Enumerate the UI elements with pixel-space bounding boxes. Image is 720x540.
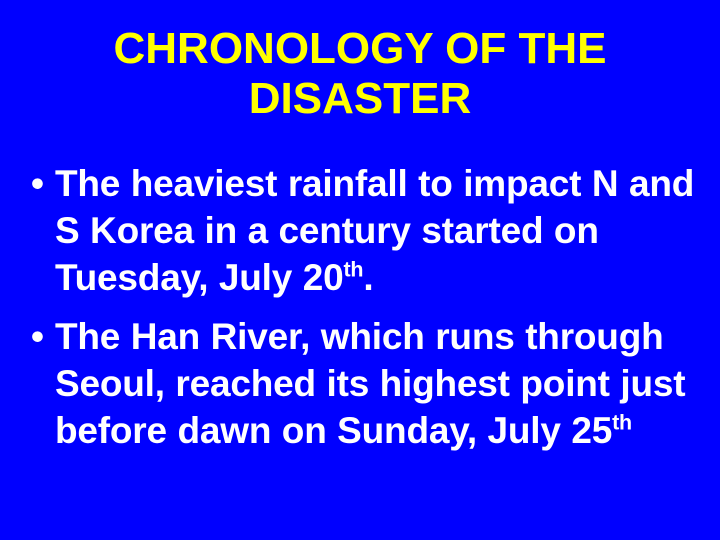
- list-item: • The heaviest rainfall to impact N and …: [25, 160, 697, 301]
- bullet-point-icon: •: [25, 313, 55, 360]
- bullet-list: • The heaviest rainfall to impact N and …: [25, 160, 697, 466]
- presentation-slide: CHRONOLOGY OF THE DISASTER • The heavies…: [0, 0, 720, 540]
- bullet-text-lead: The Han River, which runs through Seoul,…: [55, 316, 685, 451]
- bullet-text-rainfall: The heaviest rainfall to impact N and S …: [55, 160, 697, 301]
- bullet-text-han-river: The Han River, which runs through Seoul,…: [55, 313, 697, 454]
- slide-title: CHRONOLOGY OF THE DISASTER: [40, 24, 680, 124]
- bullet-text-lead: The heaviest rainfall to impact N and S …: [55, 163, 694, 298]
- bullet-point-icon: •: [25, 160, 55, 207]
- bullet-text-tail: .: [363, 257, 373, 298]
- ordinal-suffix: th: [343, 258, 363, 282]
- ordinal-suffix: th: [612, 411, 632, 435]
- list-item: • The Han River, which runs through Seou…: [25, 313, 697, 454]
